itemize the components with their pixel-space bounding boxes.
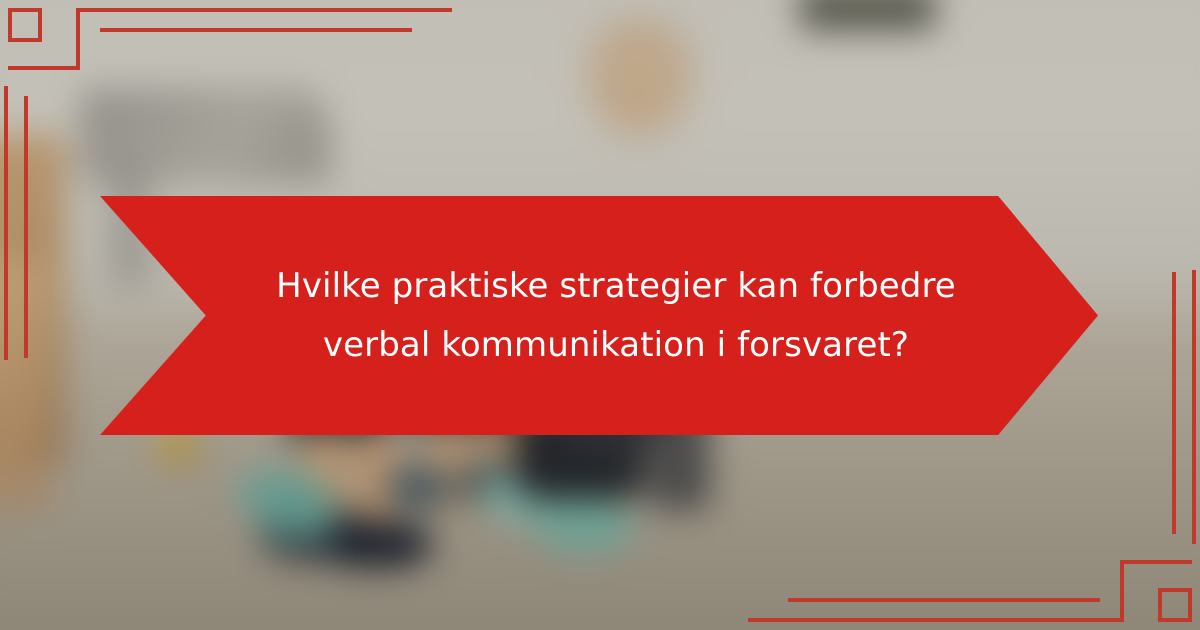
headline-banner: Hvilke praktiske strategier kan forbedre… (100, 196, 1098, 435)
social-card: Hvilke praktiske strategier kan forbedre… (0, 0, 1200, 630)
headline-line-2: verbal kommunikation i forsvaret? (276, 316, 956, 374)
headline-line-1: Hvilke praktiske strategier kan forbedre (276, 257, 956, 315)
headline-text: Hvilke praktiske strategier kan forbedre… (242, 257, 956, 374)
